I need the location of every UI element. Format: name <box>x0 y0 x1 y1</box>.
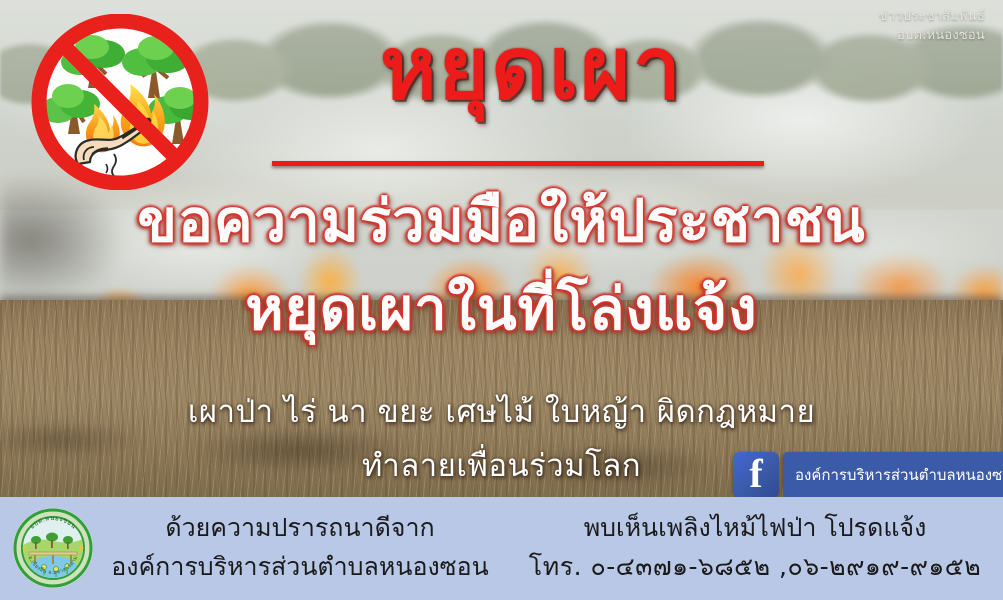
municipal-seal-icon: อบต.หนองซอน อ.เชียงยืน จ.มหาสารคาม <box>12 507 94 589</box>
page-title: หยุดเผา <box>0 24 1003 114</box>
facebook-f-glyph: f <box>733 454 779 494</box>
body-line-1: เผาป่า ไร่ นา ขยะ เศษไม้ ใบหญ้า ผิดกฎหมา… <box>0 386 1003 436</box>
subheadline-line-1: ขอความร่วมมือให้ประชาชน <box>0 190 1003 254</box>
facebook-icon[interactable]: f <box>733 452 779 498</box>
facebook-page-name[interactable]: องค์การบริหารส่วนตำบลหนองซอน <box>783 452 1003 498</box>
footer-right-text: พบเห็นเพลิงไหม้ไฟป่า โปรดแจ้ง โทร. ๐-๔๓๗… <box>520 509 990 587</box>
poster-root: ข่าวประชาสัมพันธ์ อบต.หนองซอน หยุดเผา ขอ… <box>0 0 1003 600</box>
footer-bar: อบต.หนองซอน อ.เชียงยืน จ.มหาสารคาม ด้วยค… <box>0 497 1003 600</box>
footer-left-text: ด้วยความปรารถนาดีจาก องค์การบริหารส่วนตำ… <box>100 509 500 587</box>
footer-left-line-1: ด้วยความปรารถนาดีจาก <box>100 509 500 548</box>
footer-left-line-2: องค์การบริหารส่วนตำบลหนองซอน <box>100 548 500 587</box>
footer-phone-numbers: โทร. ๐-๔๓๗๑-๖๘๕๒ ,๐๖-๒๙๑๙-๙๑๕๒ <box>520 548 990 587</box>
divider <box>272 161 764 166</box>
subheadline-line-2: หยุดเผาในที่โล่งแจ้ง <box>0 278 1003 342</box>
facebook-badge[interactable]: f องค์การบริหารส่วนตำบลหนองซอน <box>733 452 1003 498</box>
footer-right-line-1: พบเห็นเพลิงไหม้ไฟป่า โปรดแจ้ง <box>520 509 990 548</box>
